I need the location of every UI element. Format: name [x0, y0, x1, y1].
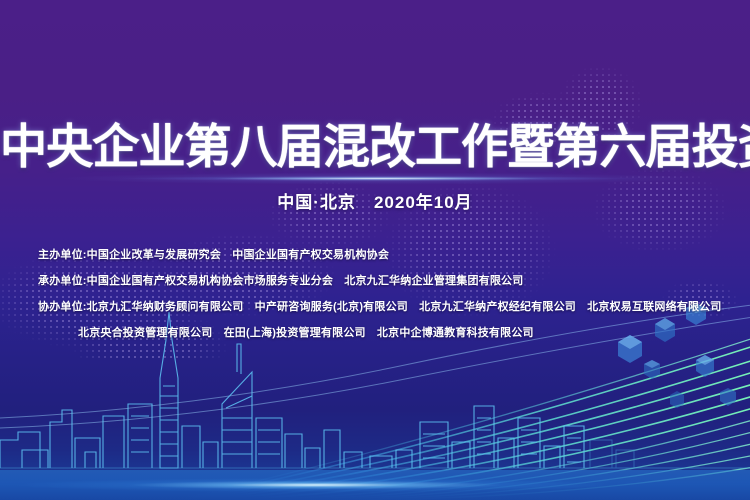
organizer-line-undertaker: 承办单位:中国企业国有产权交易机构协会市场服务专业分会 北京九汇华纳企业管理集团… [0, 268, 750, 294]
horizon-glow [0, 472, 750, 498]
organizer-line-coorganizer: 协办单位:北京九汇华纳财务顾问有限公司 中产研咨询服务(北京)有限公司 北京九汇… [0, 294, 750, 320]
title-glow-streak [120, 176, 640, 181]
organizer-line-host: 主办单位:中国企业改革与发展研究会 中国企业国有产权交易机构协会 [0, 242, 750, 268]
event-location-date: 中国·北京 2020年10月 [0, 188, 750, 213]
page-title: 中央企业第八届混改工作暨第六届投资研讨会 [0, 118, 750, 176]
organizers-block: 主办单位:中国企业改革与发展研究会 中国企业国有产权交易机构协会 承办单位:中国… [0, 242, 750, 346]
organizer-line-coorganizer-cont: 北京央合投资管理有限公司 在田(上海)投资管理有限公司 北京中企博通教育科技有限… [0, 320, 750, 346]
conference-banner: 中央企业第八届混改工作暨第六届投资研讨会 中国·北京 2020年10月 主办单位… [0, 0, 750, 500]
title-wrap: 中央企业第八届混改工作暨第六届投资研讨会 [0, 118, 750, 176]
